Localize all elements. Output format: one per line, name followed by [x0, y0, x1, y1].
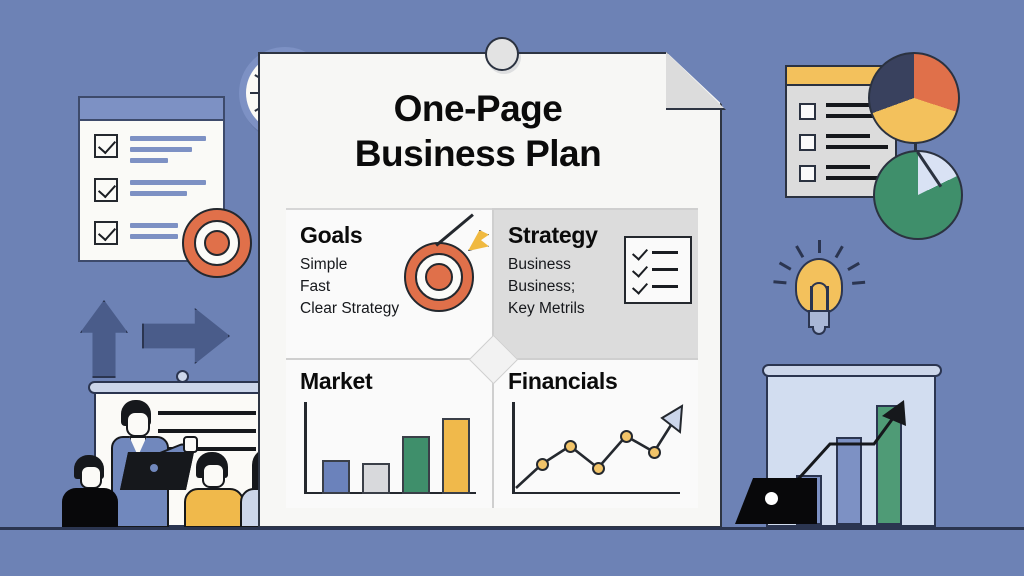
financials-point-3	[592, 462, 605, 475]
quadrant-grid: Goals Simple Fast Clear Strategy Strateg…	[286, 208, 698, 508]
target-icon	[182, 208, 252, 278]
arrow-right-icon	[142, 308, 230, 364]
checklist-icon	[624, 236, 692, 304]
checklist-card-header	[80, 98, 223, 121]
laptop-logo-dot	[765, 492, 778, 505]
goals-item-2: Fast	[300, 276, 399, 298]
quadrant-financials-heading: Financials	[508, 368, 618, 395]
financials-point-5	[648, 446, 661, 459]
growth-line-chart-icon	[512, 402, 684, 494]
bar-chart-icon	[304, 402, 476, 494]
quadrant-goals-items: Simple Fast Clear Strategy	[300, 254, 399, 320]
page-title-line-2: Business Plan	[258, 131, 698, 176]
checkbox-empty-1	[799, 103, 816, 120]
quadrant-financials[interactable]: Financials	[492, 358, 698, 508]
strategy-item-3: Key Metrils	[508, 298, 585, 320]
quadrant-strategy-heading: Strategy	[508, 222, 598, 249]
quadrant-goals-heading: Goals	[300, 222, 362, 249]
poster-canvas: One-Page Business Plan Goals Simple Fast…	[0, 0, 1024, 576]
target-with-arrow-icon	[400, 226, 486, 312]
market-bar-4	[442, 418, 470, 494]
quadrant-strategy-items: Business Business; Key Metrils	[508, 254, 585, 320]
laptop-icon	[120, 452, 194, 490]
page-title: One-Page Business Plan	[258, 86, 698, 176]
financials-point-4	[620, 430, 633, 443]
goals-item-1: Simple	[300, 254, 399, 276]
quadrant-market-heading: Market	[300, 368, 372, 395]
goals-item-3: Clear Strategy	[300, 298, 399, 320]
checkbox-checked-3	[94, 221, 118, 245]
strategy-item-2: Business;	[508, 276, 585, 298]
financials-point-1	[536, 458, 549, 471]
market-bar-1	[322, 460, 350, 494]
market-bar-3	[402, 436, 430, 494]
person-seated-yellow	[184, 452, 246, 528]
checkbox-checked-1	[94, 134, 118, 158]
ground-line	[0, 527, 1024, 530]
push-pin-icon	[485, 37, 519, 71]
quadrant-market[interactable]: Market	[286, 358, 492, 508]
checkbox-empty-3	[799, 165, 816, 182]
page-title-line-1: One-Page	[258, 86, 698, 131]
strategy-item-1: Business	[508, 254, 585, 276]
checkbox-empty-2	[799, 134, 816, 151]
arrow-up-icon	[80, 300, 128, 378]
market-bar-2	[362, 463, 390, 494]
quadrant-strategy[interactable]: Strategy Business Business; Key Metrils	[492, 208, 698, 358]
checkbox-checked-2	[94, 178, 118, 202]
quadrant-goals[interactable]: Goals Simple Fast Clear Strategy	[286, 208, 492, 358]
person-seated-left	[62, 455, 122, 528]
pie-chart-bottom	[873, 150, 963, 240]
pie-chart-top	[868, 52, 960, 144]
financials-point-2	[564, 440, 577, 453]
